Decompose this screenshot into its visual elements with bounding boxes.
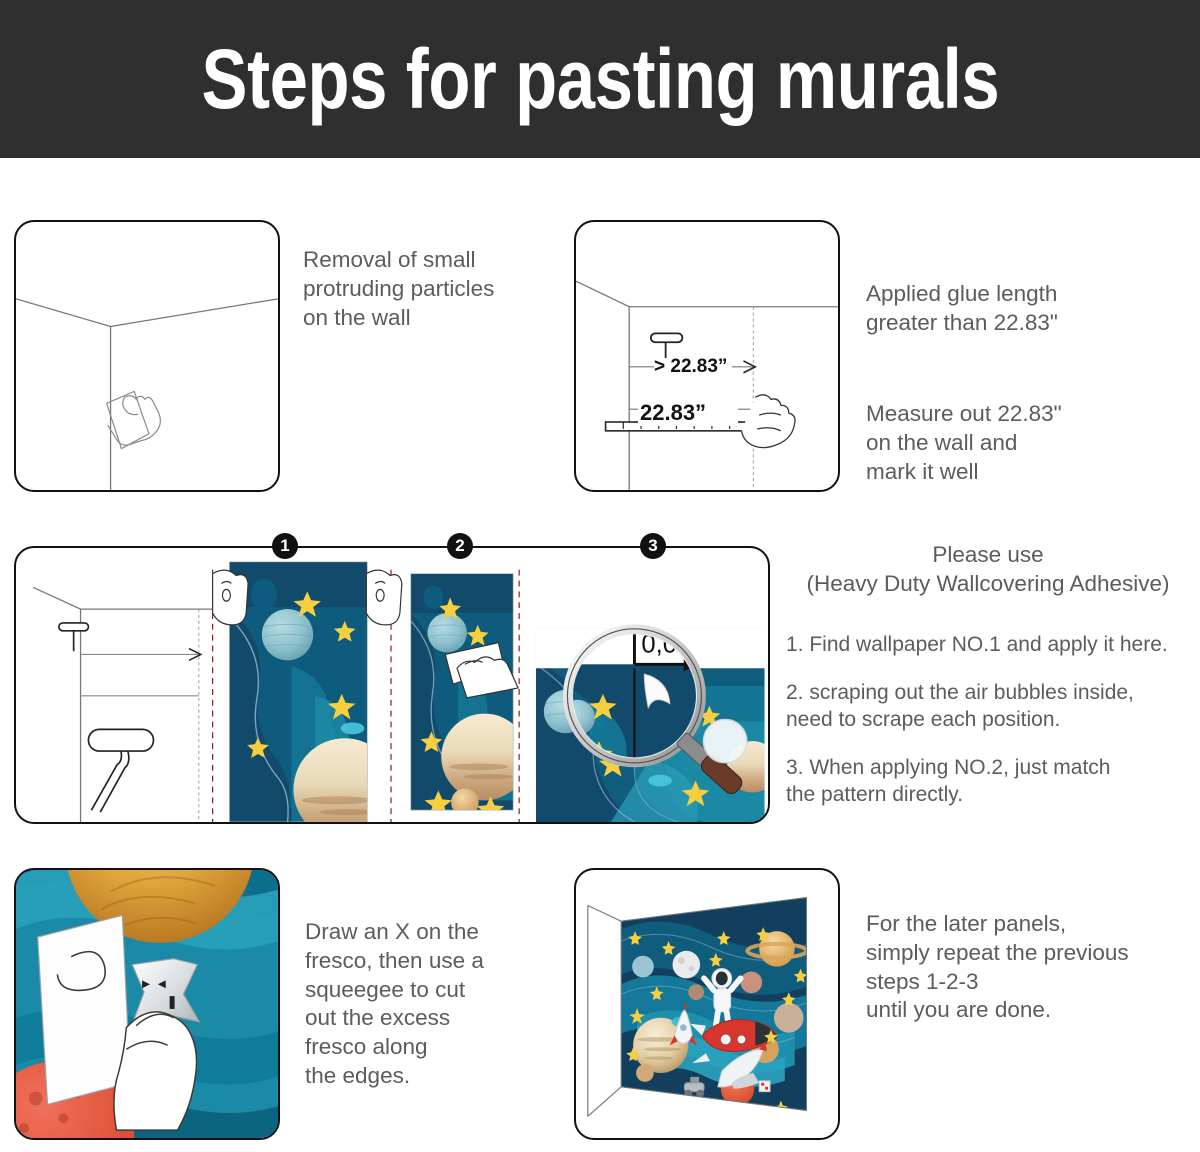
step-badge-3: 3	[640, 533, 666, 559]
step5-caption: For the later panels, simply repeat the …	[866, 910, 1196, 1025]
infographic-page: Steps for pasting murals Removal of smal…	[0, 0, 1200, 1152]
adhesive-heading-line1: Please use	[778, 540, 1198, 569]
instruction-1: 1. Find wallpaper NO.1 and apply it here…	[786, 632, 1186, 658]
instruction-list: 1. Find wallpaper NO.1 and apply it here…	[786, 632, 1186, 830]
instruction-2: 2. scraping out the air bubbles inside, …	[786, 680, 1186, 733]
step1-illustration-panel	[14, 220, 280, 492]
step2-caption-measure: Measure out 22.83" on the wall and mark …	[866, 400, 1166, 486]
step4-illustration-panel	[14, 868, 280, 1140]
paint-roller-icon	[88, 729, 153, 812]
hand-icon	[114, 1012, 197, 1130]
page-title: Steps for pasting murals	[201, 31, 999, 128]
room-corner-drawing	[16, 222, 278, 490]
hand-icon	[741, 395, 795, 448]
adhesive-heading-line2: (Heavy Duty Wallcovering Adhesive)	[778, 569, 1198, 598]
squeegee-cut-illustration	[16, 870, 278, 1138]
step-badge-1: 1	[272, 533, 298, 559]
page-header: Steps for pasting murals	[0, 0, 1200, 158]
instruction-3: 3. When applying NO.2, just match the pa…	[786, 755, 1186, 808]
measure-length-label-text: 22.83”	[640, 400, 706, 426]
finished-mural-illustration	[576, 870, 838, 1138]
step-badge-2: 2	[447, 533, 473, 559]
step1-caption: Removal of small protruding particles on…	[303, 246, 553, 332]
step4-caption: Draw an X on the fresco, then use a sque…	[305, 918, 550, 1091]
middle-steps-panel: 0,0	[14, 546, 770, 824]
hand-icon-left	[213, 570, 248, 625]
glue-length-label-text: > 22.83”	[654, 356, 727, 378]
hand-icon-right	[366, 570, 401, 625]
scraper-icon	[107, 391, 161, 448]
adhesive-heading: Please use (Heavy Duty Wallcovering Adhe…	[778, 540, 1198, 599]
step2-caption-glue: Applied glue length greater than 22.83"	[866, 280, 1166, 338]
step2-illustration-panel: > 22.83” 22.83” > 22.83” 22.83”	[574, 220, 840, 492]
middle-steps-illustration: 0,0	[16, 548, 768, 822]
step5-illustration-panel	[574, 868, 840, 1140]
